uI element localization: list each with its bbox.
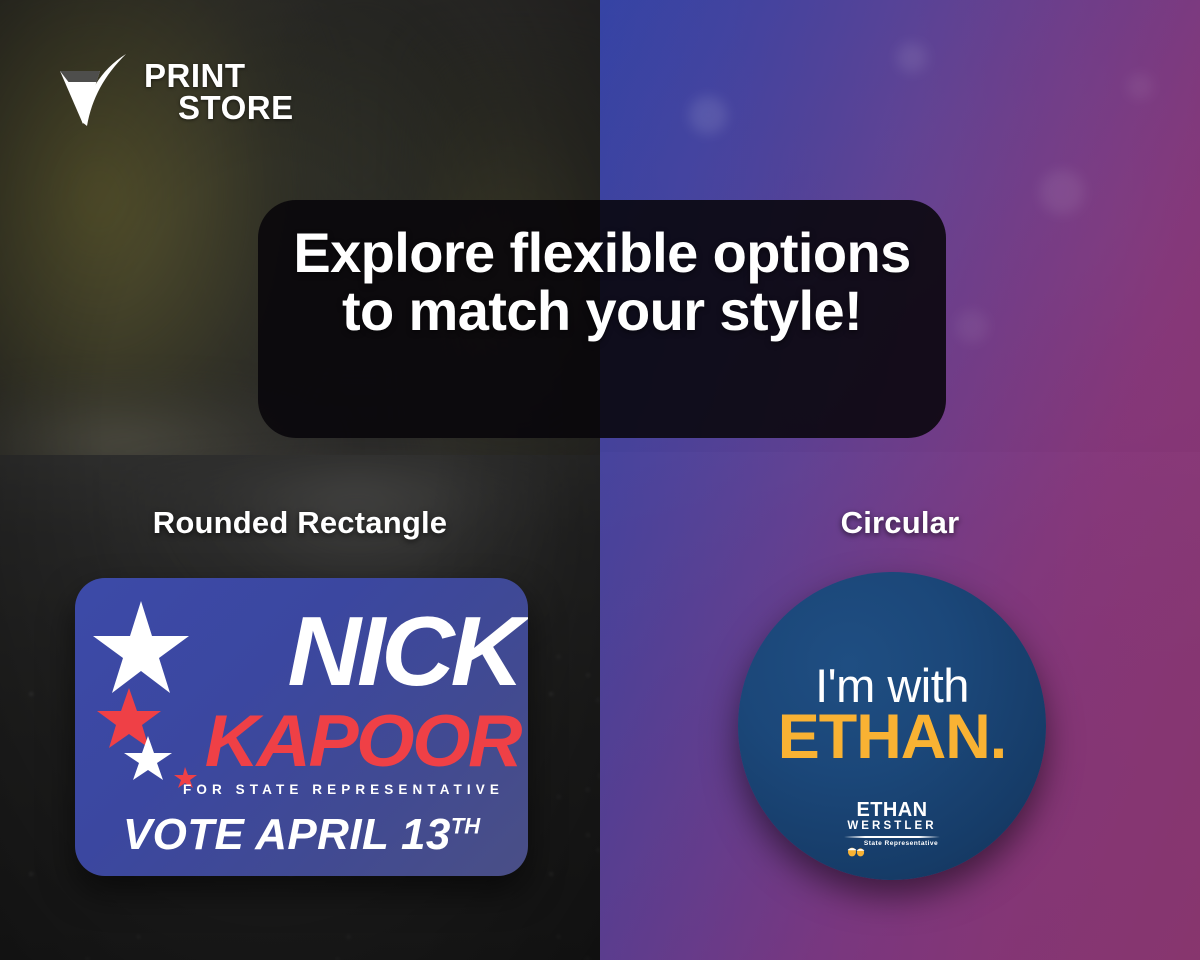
- checkmark-v-icon: [56, 52, 130, 132]
- logo-text-line1: PRINT: [144, 60, 294, 92]
- campaign-logo-subtitle: State Representative: [738, 840, 1046, 847]
- sign-name-last: KAPOOR: [156, 706, 520, 778]
- sign-cta-suffix: TH: [451, 813, 480, 838]
- acorn-icon: [846, 844, 868, 857]
- headline-text: Explore flexible options to match your s…: [258, 200, 946, 340]
- campaign-logo-surname: WERSTLER: [738, 820, 1046, 834]
- button-line2: ETHAN.: [738, 706, 1046, 769]
- sign-call-to-action: VOTE APRIL 13TH: [75, 810, 528, 860]
- sign-name-last-wrap: KAPOOR: [167, 706, 520, 784]
- sign-tagline: FOR STATE REPRESENTATIVE: [167, 782, 520, 797]
- sign-cta-text: VOTE APRIL 13: [123, 810, 451, 859]
- promo-graphic: PRINT STORE Explore flexible options to …: [0, 0, 1200, 960]
- sign-name-first-wrap: NICK: [175, 604, 520, 712]
- sign-preview-circular[interactable]: I'm with ETHAN. ETHAN WERSTLER State Rep…: [738, 572, 1046, 880]
- logo-text-line2: STORE: [178, 92, 294, 124]
- sign-name-first: NICK: [161, 604, 520, 698]
- campaign-logo-rule: [844, 836, 940, 838]
- option-label-circular: Circular: [600, 505, 1200, 541]
- campaign-logo: ETHAN WERSTLER State Representative: [738, 800, 1046, 847]
- campaign-logo-name: ETHAN: [738, 800, 1046, 820]
- brand-logo[interactable]: PRINT STORE: [56, 52, 294, 132]
- headline-card: Explore flexible options to match your s…: [258, 200, 946, 438]
- sign-preview-rounded-rectangle[interactable]: NICK KAPOOR FOR STATE REPRESENTATIVE VOT…: [75, 578, 528, 876]
- option-label-rounded-rectangle: Rounded Rectangle: [0, 505, 600, 541]
